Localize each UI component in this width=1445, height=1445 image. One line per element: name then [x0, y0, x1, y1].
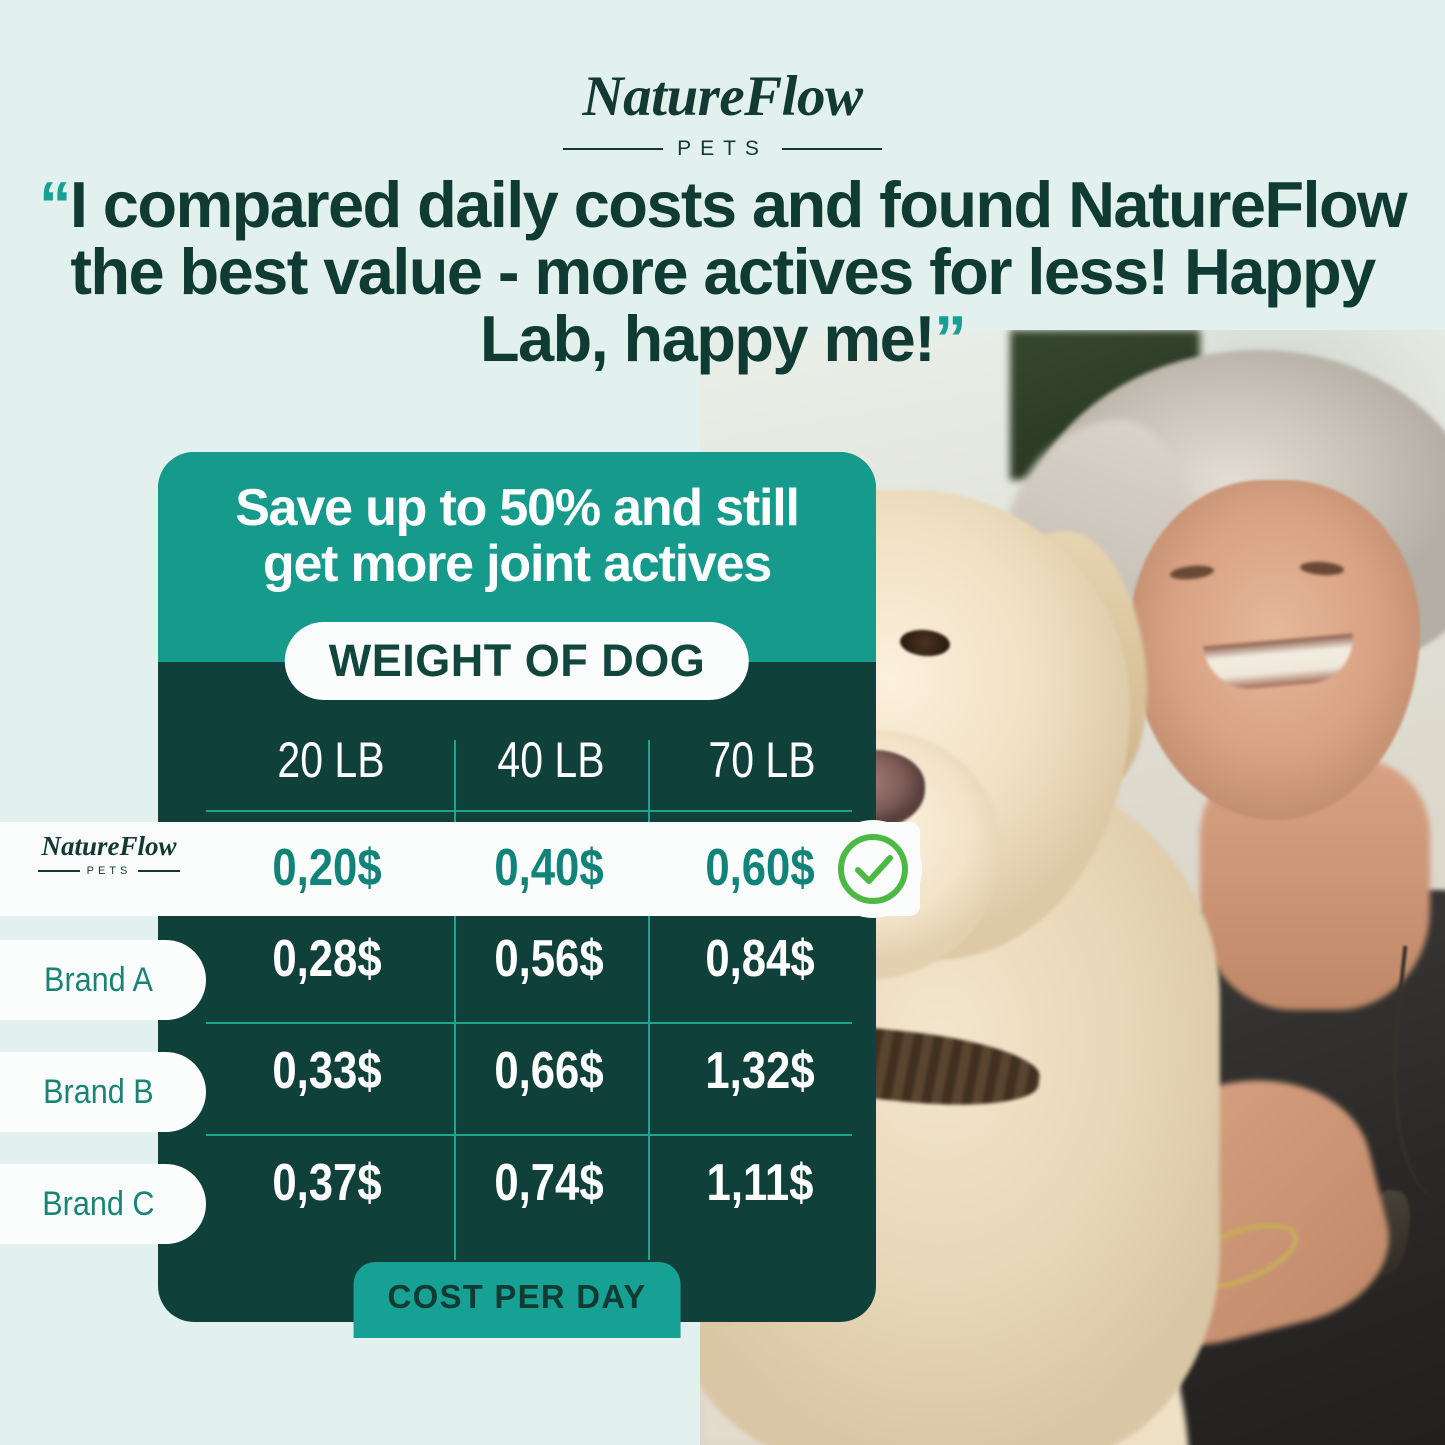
comparison-table: 20 LB 40 LB 70 LB 0,28$ 0,56$ 0,84$ 0,33…	[158, 714, 876, 1274]
logo-rule-right	[782, 148, 882, 150]
table-row-brand-c: 0,37$ 0,74$ 1,11$	[158, 1134, 876, 1244]
cell-brand-c-70lb: 1,11$	[663, 1153, 858, 1213]
promo-line-2: get more joint actives	[182, 536, 852, 592]
weight-of-dog-pill: WEIGHT OF DOG	[285, 622, 749, 700]
promo-heading: Save up to 50% and still get more joint …	[158, 480, 876, 592]
row-brand-name: NatureFlow	[14, 833, 204, 860]
cell-natureflow-40lb: 0,40$	[466, 838, 632, 898]
cell-brand-a-20lb: 0,28$	[222, 929, 432, 989]
column-header-20lb: 20 LB	[229, 731, 434, 789]
row-label-brand-b: Brand B	[0, 1052, 206, 1132]
grid-hline-header	[206, 810, 852, 812]
cell-brand-c-40lb: 0,74$	[466, 1153, 632, 1213]
row-label-brand-c: Brand C	[0, 1164, 206, 1244]
brand-name: NatureFlow	[0, 68, 1445, 125]
cell-brand-b-20lb: 0,33$	[222, 1041, 432, 1101]
row-brand-sub-wrap: PETS	[14, 865, 204, 877]
row-label-brand-c-text: Brand C	[42, 1185, 154, 1224]
promo-line-1: Save up to 50% and still	[182, 480, 852, 536]
cost-per-day-pill: COST PER DAY	[354, 1262, 681, 1338]
brand-sub-wrap: PETS	[0, 137, 1445, 161]
column-header-40lb: 40 LB	[471, 731, 630, 789]
row-brand-sub: PETS	[87, 865, 132, 877]
cell-brand-b-70lb: 1,32$	[663, 1041, 858, 1101]
column-header-70lb: 70 LB	[669, 731, 856, 789]
close-quote-mark: ”	[934, 302, 965, 375]
table-header-row: 20 LB 40 LB 70 LB	[158, 714, 876, 806]
cell-brand-a-40lb: 0,56$	[466, 929, 632, 989]
cell-brand-a-70lb: 0,84$	[663, 929, 858, 989]
cell-natureflow-20lb: 0,20$	[222, 838, 432, 898]
testimonial-text: I compared daily costs and found NatureF…	[70, 168, 1406, 375]
row-label-natureflow: NatureFlow PETS	[14, 833, 204, 877]
open-quote-mark: “	[39, 168, 70, 241]
check-circle-icon	[824, 820, 922, 918]
row-label-brand-a-text: Brand A	[44, 961, 153, 1000]
cell-brand-b-40lb: 0,66$	[466, 1041, 632, 1101]
row-logo-rule-left	[38, 870, 80, 872]
row-logo-rule-right	[138, 870, 180, 872]
logo-rule-left	[563, 148, 663, 150]
row-label-brand-b-text: Brand B	[43, 1073, 154, 1112]
row-label-brand-a: Brand A	[0, 940, 206, 1020]
table-row-brand-b: 0,33$ 0,66$ 1,32$	[158, 1022, 876, 1132]
brand-logo: NatureFlow PETS	[0, 68, 1445, 161]
cell-brand-c-20lb: 0,37$	[222, 1153, 432, 1213]
table-row-brand-a: 0,28$ 0,56$ 0,84$	[158, 910, 876, 1020]
testimonial-quote: “I compared daily costs and found Nature…	[0, 172, 1445, 373]
brand-sub: PETS	[677, 137, 768, 161]
